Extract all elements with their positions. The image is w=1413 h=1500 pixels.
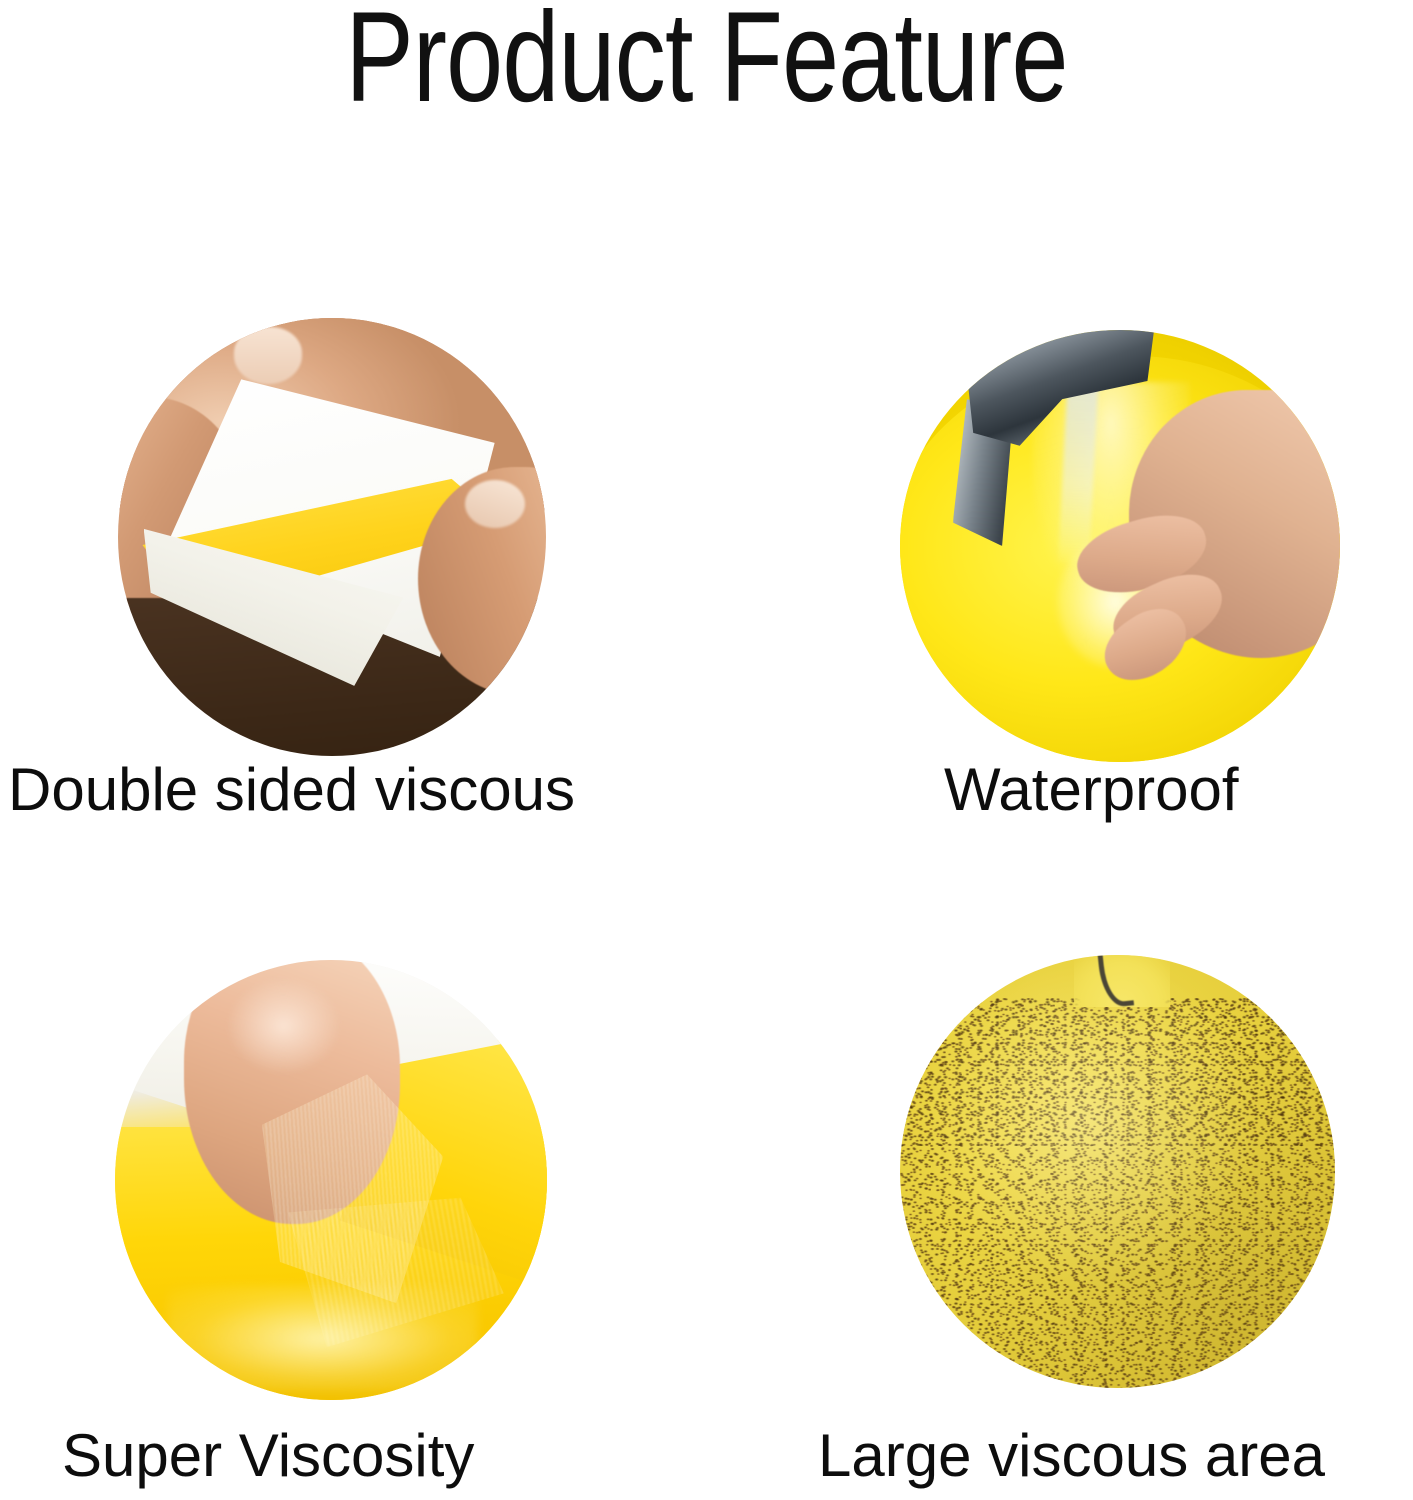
peel-fingernail-upper <box>234 327 302 384</box>
feature-image-double-sided-viscous <box>118 318 546 756</box>
peel-fingernail-lower <box>465 480 525 528</box>
viscosity-thumbnail <box>227 978 339 1075</box>
feature-caption-waterproof: Waterproof <box>944 758 1239 822</box>
feature-image-large-viscous-area <box>900 955 1335 1388</box>
feature-caption-large-viscous-area: Large viscous area <box>818 1424 1325 1488</box>
viscosity-gloss-highlight <box>167 1286 478 1392</box>
feature-image-waterproof <box>900 330 1340 762</box>
feature-caption-double-sided-viscous: Double sided viscous <box>8 758 575 822</box>
feature-caption-super-viscosity: Super Viscosity <box>62 1424 474 1488</box>
page-title: Product Feature <box>141 0 1271 122</box>
trap-shading <box>900 955 1335 1388</box>
feature-image-super-viscosity <box>115 960 547 1400</box>
